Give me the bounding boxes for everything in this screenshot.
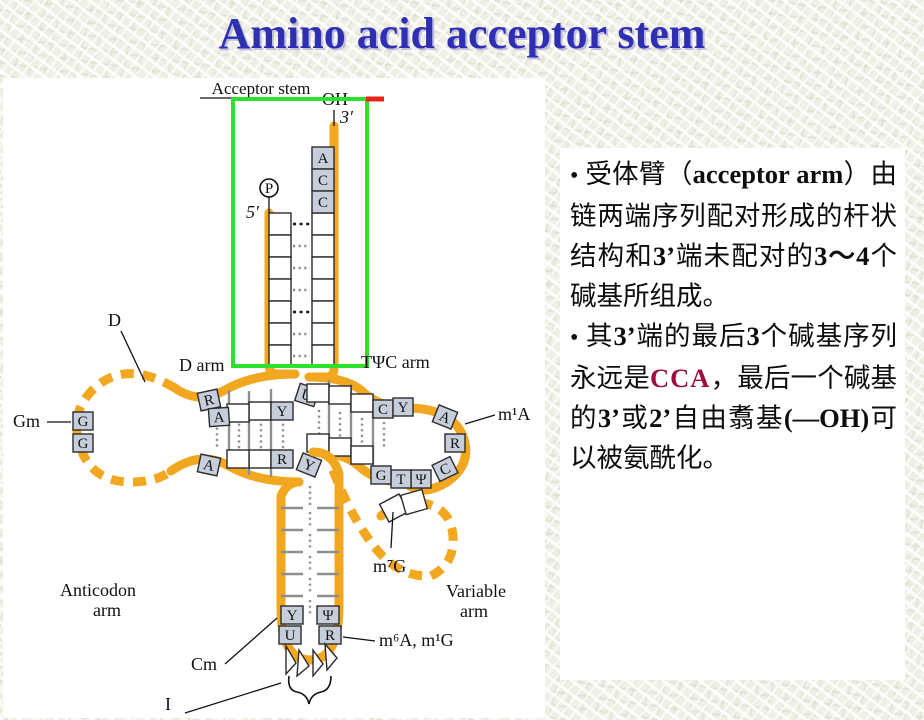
p1-3prime: 3’ [653, 241, 675, 271]
trna-cloverleaf-diagram: .bb{fill:none;stroke:#F2A721;stroke-widt… [3, 78, 545, 718]
p1-seg5: 端未配对的 [675, 241, 814, 271]
acceptor-stem-ladder [269, 213, 334, 367]
anticodon-loop-bases: Y U Ψ R [279, 606, 341, 676]
label-5prime: 5′ [246, 202, 260, 222]
base-tloop-c: C [378, 402, 388, 418]
trna-diagram-panel: .bb{fill:none;stroke:#F2A721;stroke-widt… [3, 78, 545, 718]
page-title: Amino acid acceptor stem [0, 8, 924, 59]
p1-acceptor-arm-en: acceptor arm [693, 159, 844, 189]
backbone-anticodon-left [281, 482, 299, 608]
backbone-variable-loop [427, 504, 453, 576]
base-cca-2: C [318, 195, 328, 211]
m1a-leader-line [465, 415, 495, 424]
base-dloop-g2: G [78, 436, 89, 452]
darm-ladder: Y R [217, 389, 293, 477]
p1-seg1: 受体臂（ [585, 159, 692, 189]
label-p: P [265, 181, 273, 197]
label-tpsic-arm: TΨC arm [361, 352, 430, 372]
base-anticodon-y: Y [287, 608, 298, 624]
label-d-arm: D arm [179, 355, 224, 375]
base-tloop-y: Y [398, 400, 409, 416]
base-darm-r: R [277, 452, 287, 468]
m6a-leader-line [343, 637, 375, 641]
p2-seg9: 或 [620, 403, 649, 433]
label-3prime: 3′ [339, 107, 354, 127]
base-cca-0: A [318, 151, 329, 167]
cca-tail-bases: A C C [312, 147, 334, 213]
p2-oh-group: (—OH) [784, 403, 869, 433]
anticodon-ladder [281, 486, 339, 616]
base-cca-1: C [318, 173, 328, 189]
base-dloop-g1: G [78, 414, 89, 430]
p2-count-3: 3 [746, 321, 759, 351]
base-anticodon-u: U [285, 628, 296, 644]
label-i-note-line1: and other [105, 715, 169, 718]
p2-3prime-b: 3’ [598, 403, 620, 433]
label-anticodon-arm-line1: Anticodon [60, 580, 136, 600]
acceptor-stem-highlight-box [233, 99, 367, 366]
bullet-paragraph-1: • 受体臂（acceptor arm）由链两端序列配对形成的杆状结构和3’端未配… [570, 154, 897, 316]
p2-2prime: 2’ [649, 403, 671, 433]
p2-seg11: 自由翥基 [671, 403, 784, 433]
p1-base-count: 3～4 [814, 241, 869, 271]
base-anticodon-psi: Ψ [322, 608, 334, 624]
label-m7g: m⁷G [373, 556, 406, 576]
base-tloop-r: R [450, 436, 460, 452]
label-acceptor-stem: Acceptor stem [212, 79, 311, 98]
base-dloop-a: A [213, 410, 225, 427]
base-darm-y: Y [277, 404, 288, 420]
label-anticodon-arm-line2: arm [93, 600, 121, 620]
cm-leader-line [225, 618, 277, 664]
anticodon-brace [289, 676, 331, 704]
cca-sequence-highlight: CCA [650, 363, 710, 393]
bullet-paragraph-2: • 其3’端的最后3个碱基序列永远是CCA，最后一个碱基的3’或2’自由翥基(—… [570, 316, 897, 478]
label-gm: Gm [13, 411, 40, 431]
base-tloop-g: G [376, 468, 387, 484]
explanation-text-panel: • 受体臂（acceptor arm）由链两端序列配对形成的杆状结构和3’端未配… [560, 148, 905, 680]
backbone-darm-top [175, 374, 295, 397]
variable-arm-cells [380, 489, 428, 522]
p2-seg3: 端的最后 [636, 321, 747, 351]
label-variable-arm-line2: arm [460, 601, 488, 621]
bullet-marker-2: • [570, 325, 578, 351]
label-i: I [165, 694, 171, 714]
i-leader-line [185, 683, 281, 713]
base-anticodon-r: R [325, 628, 335, 644]
label-variable-arm-line1: Variable [446, 581, 506, 601]
label-m1a: m¹A [498, 404, 530, 424]
label-d: D [108, 310, 121, 330]
label-m6a-m1g: m⁶A, m¹G [379, 630, 454, 650]
base-tloop-t: T [396, 472, 405, 488]
p2-3prime-a: 3’ [614, 321, 636, 351]
base-tloop-psi: Ψ [415, 472, 427, 488]
bullet-marker-1: • [570, 163, 578, 189]
label-cm: Cm [191, 654, 217, 674]
p2-seg1: 其 [586, 321, 613, 351]
